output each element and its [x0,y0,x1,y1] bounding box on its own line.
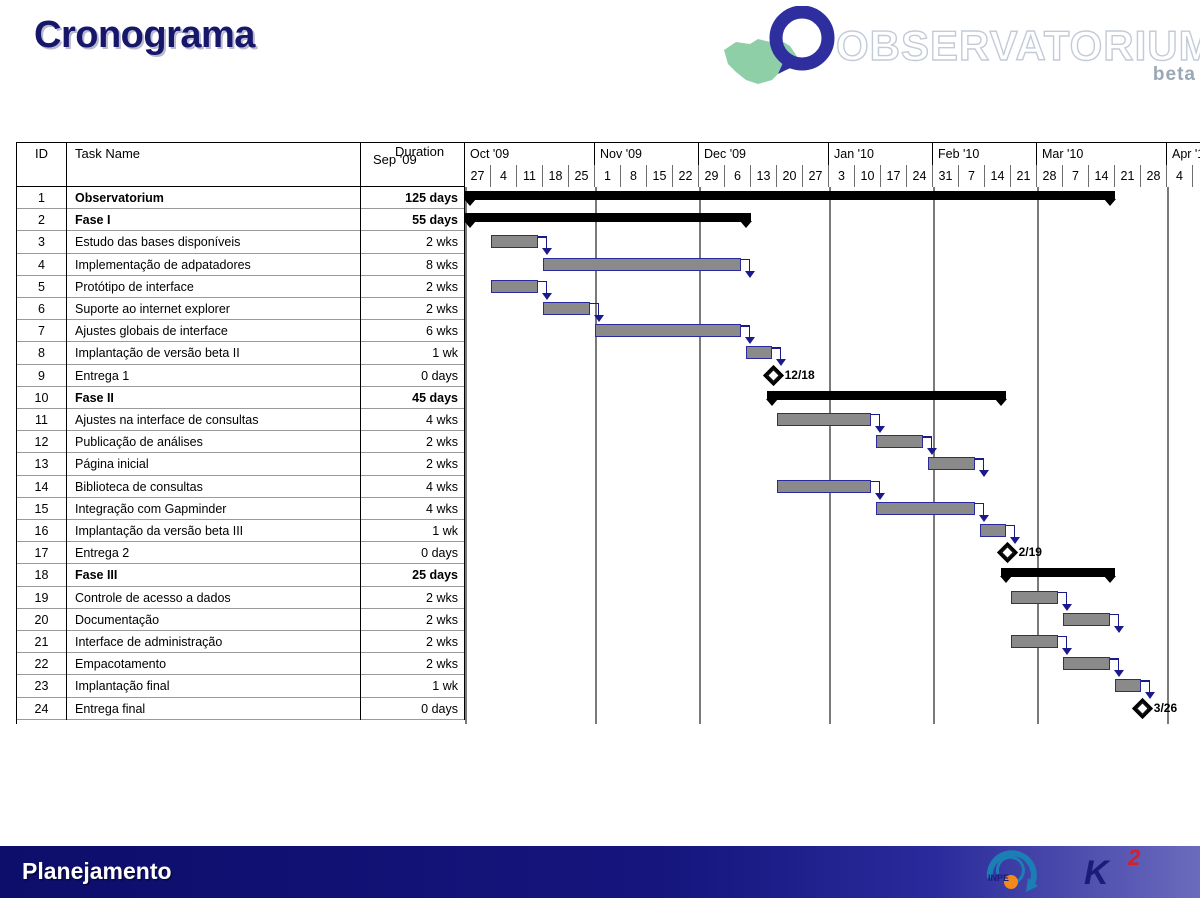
cell-task-name: Implantação final [67,675,361,697]
table-row[interactable]: 19Controle de acesso a dados2 wks [17,587,465,609]
task-bar[interactable] [746,346,772,359]
timeline-month-cell: Dec '09 [699,143,829,165]
cell-duration: 2 wks [361,587,465,609]
cell-duration: 55 days [361,209,465,231]
cell-duration: 2 wks [361,653,465,675]
cell-duration: 4 wks [361,498,465,520]
cell-duration: 8 wks [361,254,465,276]
timeline-week-cell: 11 [517,165,543,187]
cell-id: 22 [17,653,67,675]
task-bar[interactable] [491,235,538,248]
dependency-arrow [542,248,552,255]
cell-id: 9 [17,365,67,387]
footer-title: Planejamento [22,858,172,885]
table-row[interactable]: 21Interface de administração2 wks [17,631,465,653]
timeline-month-cell: Oct '09 [465,143,595,165]
timeline-week-cell: 18 [543,165,569,187]
cell-id: 13 [17,453,67,475]
timeline-week-cell: 3 [829,165,855,187]
task-bar[interactable] [980,524,1006,537]
dependency-arrow [927,448,937,455]
task-bar[interactable] [876,435,923,448]
cell-id: 10 [17,387,67,409]
timeline-month-cell: Apr '10 [1167,143,1200,165]
k2-letter: K [1084,854,1107,892]
cell-id: 20 [17,609,67,631]
timeline-pane: Oct '09Nov '09Dec '09Jan '10Feb '10Mar '… [465,143,1200,724]
cell-duration: 45 days [361,387,465,409]
cell-duration: 25 days [361,564,465,586]
summary-bar-endcap [465,221,476,228]
task-bar[interactable] [777,480,871,493]
column-header-id: ID [17,143,67,187]
timeline-week-cell: 28 [1037,165,1063,187]
cell-id: 24 [17,698,67,720]
cell-task-name: Implantação de versão beta II [67,342,361,364]
timeline-week-cell: 24 [907,165,933,187]
footer-logos: INPE K 2 [976,848,1192,898]
gantt-chart: ID Task Name Duration Sep '09 1Observato… [16,142,1200,724]
cell-task-name: Implantação da versão beta III [67,520,361,542]
dependency-arrow [594,315,604,322]
cell-id: 15 [17,498,67,520]
table-row[interactable]: 16Implantação da versão beta III1 wk [17,520,465,542]
table-row[interactable]: 17Entrega 20 days [17,542,465,564]
dependency-arrow [542,293,552,300]
table-row[interactable]: 4Implementação de adpatadores8 wks [17,254,465,276]
task-bar[interactable] [876,502,975,515]
dependency-arrow [1114,670,1124,677]
summary-bar[interactable] [767,391,1006,400]
timeline-week-cell: 14 [985,165,1011,187]
task-bar[interactable] [928,457,975,470]
cell-duration: 2 wks [361,631,465,653]
cell-id: 23 [17,675,67,697]
table-row[interactable]: 2Fase I55 days [17,209,465,231]
timeline-month-header: Oct '09Nov '09Dec '09Jan '10Feb '10Mar '… [465,143,1200,165]
milestone-marker[interactable] [762,364,783,385]
svg-text:INPE: INPE [988,873,1009,883]
cell-duration: 6 wks [361,320,465,342]
cell-duration: 2 wks [361,609,465,631]
timeline-week-cell: 1 [595,165,621,187]
cell-task-name: Empacotamento [67,653,361,675]
task-table: ID Task Name Duration Sep '09 1Observato… [17,143,465,724]
table-row[interactable]: 14Biblioteca de consultas4 wks [17,476,465,498]
table-row[interactable]: 13Página inicial2 wks [17,453,465,475]
cell-duration: 4 wks [361,476,465,498]
timeline-week-cell: 21 [1011,165,1037,187]
cell-duration: 1 wk [361,520,465,542]
column-header-duration: Duration Sep '09 [361,143,465,187]
milestone-label: 2/19 [1019,545,1042,559]
timeline-week-cell: 25 [569,165,595,187]
cell-duration: 2 wks [361,453,465,475]
timeline-week-cell: 20 [777,165,803,187]
table-row[interactable]: 1Observatorium125 days [17,187,465,209]
cell-task-name: Página inicial [67,453,361,475]
table-row[interactable]: 5Protótipo de interface2 wks [17,276,465,298]
cell-duration: 0 days [361,365,465,387]
summary-bar[interactable] [465,213,751,222]
cell-id: 6 [17,298,67,320]
page-title: Cronograma [34,14,255,57]
dependency-arrow [979,470,989,477]
timeline-week-cell: 15 [647,165,673,187]
cell-task-name: Fase I [67,209,361,231]
footer-bar: Planejamento INPE K 2 [0,846,1200,898]
cell-task-name: Integração com Gapminder [67,498,361,520]
summary-bar[interactable] [1001,568,1115,577]
dependency-arrow [979,515,989,522]
milestone-marker[interactable] [1132,697,1153,718]
cell-task-name: Entrega 2 [67,542,361,564]
cell-duration: 0 days [361,698,465,720]
brand-beta-tag: beta [1153,64,1196,86]
table-row[interactable]: 7Ajustes globais de interface6 wks [17,320,465,342]
cell-duration: 1 wk [361,675,465,697]
cell-duration: 125 days [361,187,465,209]
cell-id: 2 [17,209,67,231]
dependency-arrow [1114,626,1124,633]
summary-bar-endcap [740,221,752,228]
dependency-arrow [776,359,786,366]
summary-bar-endcap [465,199,476,206]
timeline-week-cell: 28 [1141,165,1167,187]
timeline-week-cell: 10 [855,165,881,187]
cell-id: 21 [17,631,67,653]
summary-bar-endcap [766,399,778,406]
timeline-week-header: 2741118251815222961320273101724317142128… [465,165,1200,187]
observatorium-logo: OBSERVATORIUM beta [706,6,1198,90]
cell-task-name: Entrega 1 [67,365,361,387]
timeline-week-cell: 7 [1063,165,1089,187]
task-bar[interactable] [491,280,538,293]
table-row[interactable]: 10Fase II45 days [17,387,465,409]
task-bar[interactable] [777,413,871,426]
cell-id: 4 [17,254,67,276]
cell-duration: 2 wks [361,276,465,298]
dependency-arrow [1010,537,1020,544]
timeline-week-cell: 13 [751,165,777,187]
summary-bar-endcap [1104,199,1116,206]
inpe-logo-icon: INPE [976,848,1080,896]
summary-bar-endcap [995,399,1007,406]
cell-duration: 2 wks [361,431,465,453]
cell-task-name: Implementação de adpatadores [67,254,361,276]
timeline-week-cell: 6 [725,165,751,187]
cell-duration: 1 wk [361,342,465,364]
cell-task-name: Publicação de análises [67,431,361,453]
cell-task-name: Interface de administração [67,631,361,653]
table-row[interactable]: 9Entrega 10 days [17,365,465,387]
cell-duration: 2 wks [361,231,465,253]
cell-task-name: Observatorium [67,187,361,209]
table-row[interactable]: 22Empacotamento2 wks [17,653,465,675]
task-bar[interactable] [1011,591,1058,604]
cell-id: 14 [17,476,67,498]
cell-id: 11 [17,409,67,431]
table-row[interactable]: 18Fase III25 days [17,564,465,586]
table-row[interactable]: 15Integração com Gapminder4 wks [17,498,465,520]
cell-task-name: Controle de acesso a dados [67,587,361,609]
cell-duration: 2 wks [361,298,465,320]
timeline-week-cell: 4 [1167,165,1193,187]
gridline-month [933,187,935,724]
task-bar[interactable] [543,258,741,271]
timeline-week-cell: 17 [881,165,907,187]
cell-task-name: Ajustes na interface de consultas [67,409,361,431]
timeline-week-cell: 27 [465,165,491,187]
cell-task-name: Protótipo de interface [67,276,361,298]
cell-task-name: Ajustes globais de interface [67,320,361,342]
cell-id: 1 [17,187,67,209]
timeline-month-cell: Nov '09 [595,143,699,165]
cell-id: 8 [17,342,67,364]
k2-superscript: 2 [1128,845,1138,871]
cell-id: 18 [17,564,67,586]
timeline-week-cell: 8 [621,165,647,187]
cell-task-name: Entrega final [67,698,361,720]
dependency-arrow [1062,604,1072,611]
task-bar[interactable] [1115,679,1141,692]
cell-id: 17 [17,542,67,564]
gridline-month [465,187,467,724]
cell-task-name: Suporte ao internet explorer [67,298,361,320]
dependency-arrow [745,271,755,278]
cell-duration: 0 days [361,542,465,564]
timeline-week-cell: 4 [491,165,517,187]
table-row[interactable]: 20Documentação2 wks [17,609,465,631]
task-bar[interactable] [595,324,741,337]
k2-logo-icon: K 2 [1084,854,1107,893]
table-row[interactable]: 3Estudo das bases disponíveis2 wks [17,231,465,253]
cell-id: 12 [17,431,67,453]
dependency-arrow [745,337,755,344]
timeline-week-cell: 1 [1193,165,1200,187]
cell-id: 19 [17,587,67,609]
timeline-week-cell: 27 [803,165,829,187]
table-row[interactable]: 8Implantação de versão beta II1 wk [17,342,465,364]
gridline-month [1167,187,1169,724]
dependency-arrow [1062,648,1072,655]
milestone-marker[interactable] [996,542,1017,563]
summary-bar[interactable] [465,191,1115,200]
gridline-month [829,187,831,724]
table-row[interactable]: 12Publicação de análises2 wks [17,431,465,453]
cell-id: 16 [17,520,67,542]
timeline-week-cell: 14 [1089,165,1115,187]
sep09-overlap-label: Sep '09 [373,152,417,167]
timeline-month-cell: Jan '10 [829,143,933,165]
timeline-month-cell: Mar '10 [1037,143,1167,165]
task-bar[interactable] [1011,635,1058,648]
table-row[interactable]: 11Ajustes na interface de consultas4 wks [17,409,465,431]
task-bar[interactable] [543,302,590,315]
dependency-arrow [875,426,885,433]
cell-id: 5 [17,276,67,298]
timeline-week-cell: 22 [673,165,699,187]
brand-wordmark: OBSERVATORIUM [836,22,1200,70]
cell-task-name: Documentação [67,609,361,631]
timeline-month-cell: Feb '10 [933,143,1037,165]
cell-task-name: Fase II [67,387,361,409]
timeline-week-cell: 31 [933,165,959,187]
cell-task-name: Fase III [67,564,361,586]
task-bar[interactable] [1063,657,1110,670]
task-bar[interactable] [1063,613,1110,626]
summary-bar-endcap [1104,576,1116,583]
cell-id: 3 [17,231,67,253]
cell-duration: 4 wks [361,409,465,431]
table-row[interactable]: 23Implantação final1 wk [17,675,465,697]
cell-task-name: Estudo das bases disponíveis [67,231,361,253]
column-header-task-name: Task Name [67,143,361,187]
milestone-label: 3/26 [1154,701,1177,715]
timeline-week-cell: 21 [1115,165,1141,187]
cell-id: 7 [17,320,67,342]
timeline-week-cell: 7 [959,165,985,187]
summary-bar-endcap [1000,576,1012,583]
milestone-label: 12/18 [785,368,815,382]
cell-task-name: Biblioteca de consultas [67,476,361,498]
dependency-arrow [875,493,885,500]
timeline-week-cell: 29 [699,165,725,187]
gantt-bars-area: 12/182/193/26 [465,187,1200,724]
table-row[interactable]: 24Entrega final0 days [17,698,465,720]
dependency-arrow [1145,692,1155,699]
location-pin-icon [776,12,828,64]
table-row[interactable]: 6Suporte ao internet explorer2 wks [17,298,465,320]
